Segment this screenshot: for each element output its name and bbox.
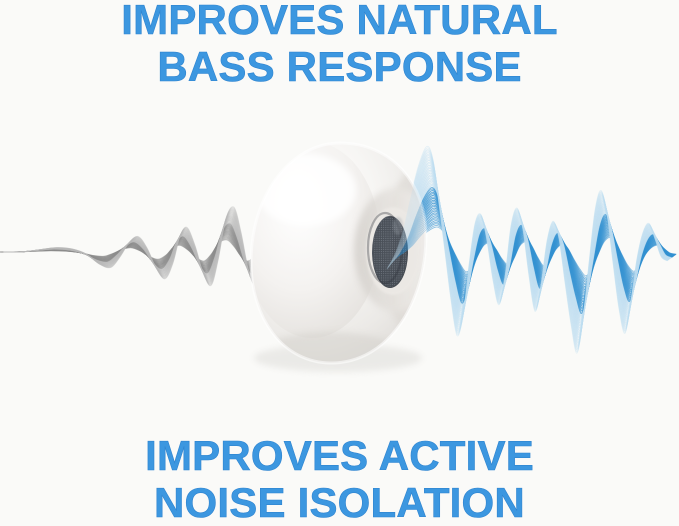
headline-bottom: IMPROVES ACTIVE NOISE ISOLATION [0, 432, 679, 526]
incoming-noise-waveform [0, 207, 293, 286]
headline-top: IMPROVES NATURAL BASS RESPONSE [0, 0, 679, 90]
infographic-canvas: IMPROVES NATURAL BASS RESPONSE IMPROVES … [0, 0, 679, 526]
foam-eartip [238, 142, 464, 412]
